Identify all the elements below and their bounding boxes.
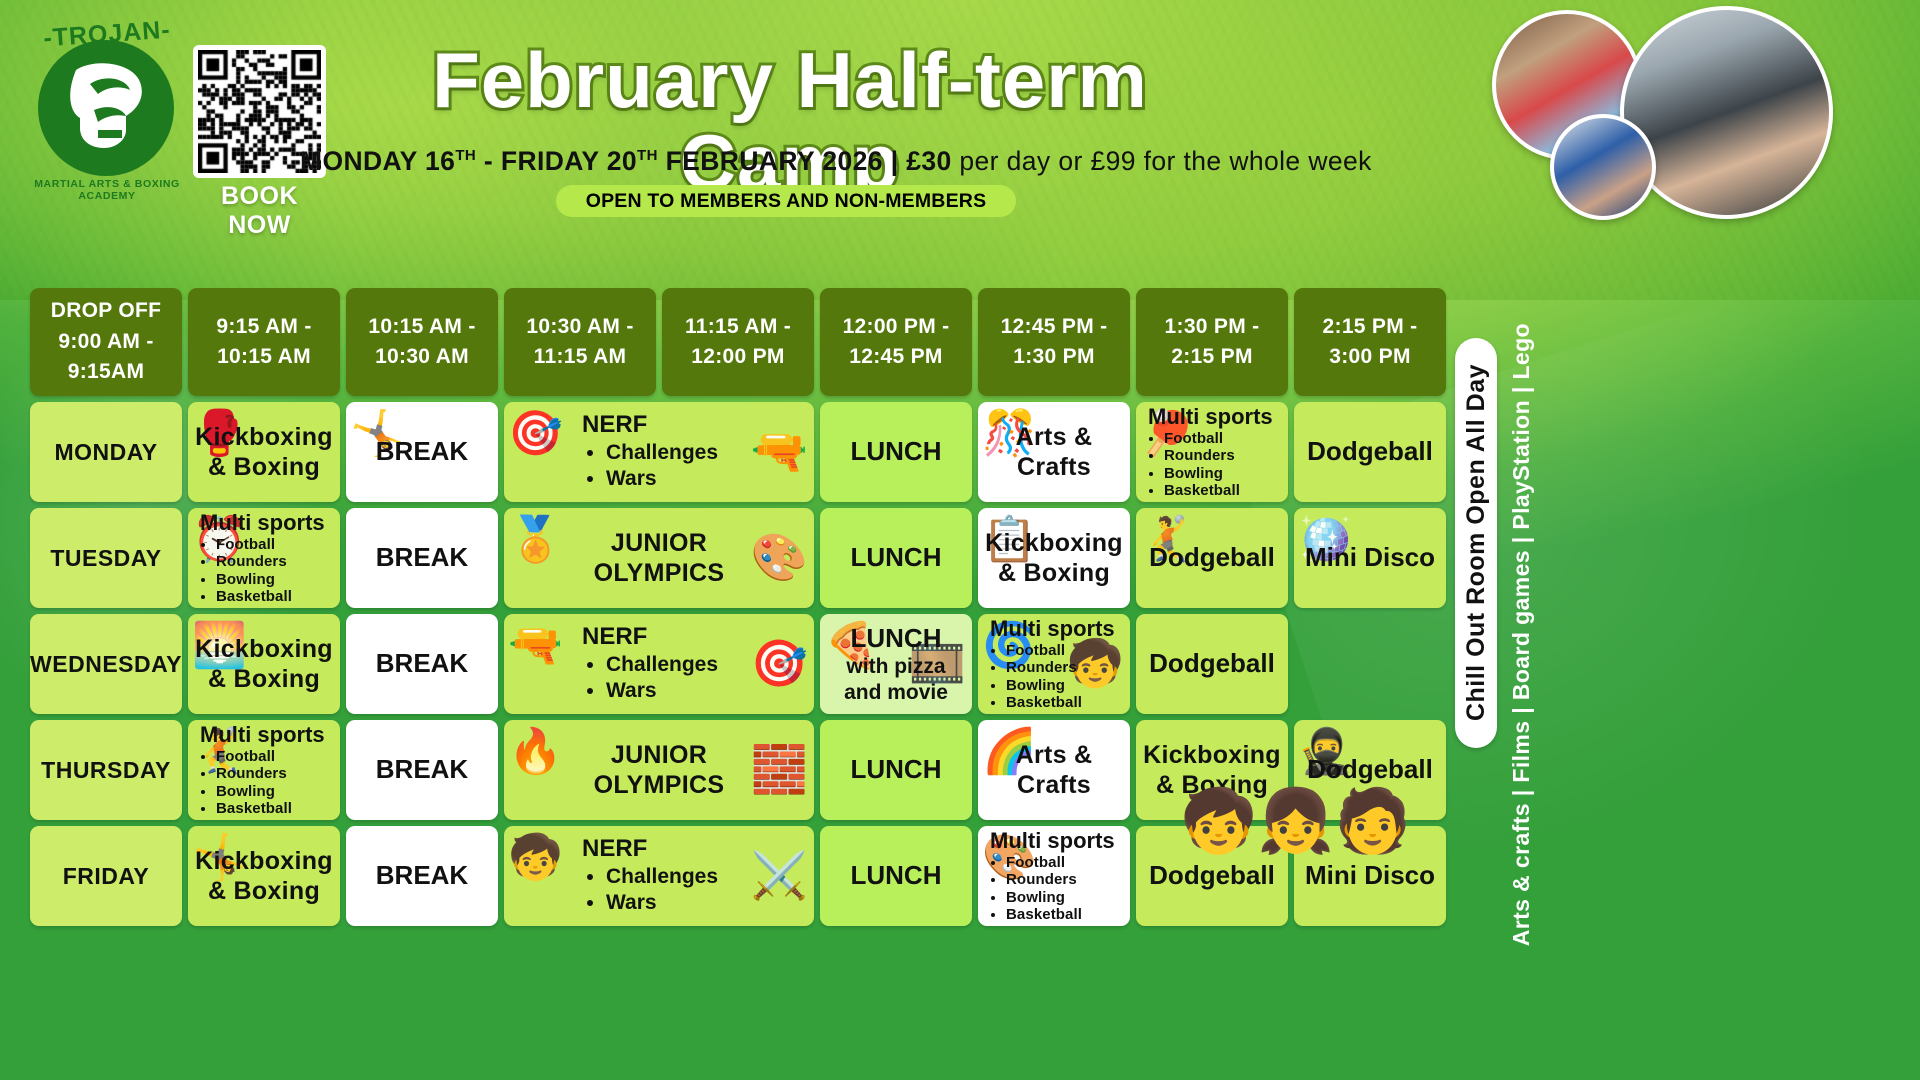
activity-cell: LUNCH — [820, 826, 972, 926]
olympic-torch-icon: 🔥 — [508, 730, 563, 774]
activity-cell: Kickboxing& Boxing🥊 — [188, 402, 340, 502]
schedule-row: TUESDAYMulti sportsFootballRoundersBowli… — [30, 508, 1450, 608]
subtitle-mid: - FRIDAY 20 — [476, 146, 637, 176]
activity-cell: LUNCHwith pizza and movie🍕🎞️ — [820, 614, 972, 714]
time-header-7: 1:30 PM -2:15 PM — [1136, 288, 1288, 396]
activity-cell: Multi sportsFootballRoundersBowlingBaske… — [978, 826, 1130, 926]
logo-bottom-text: MARTIAL ARTS & BOXING ACADEMY — [12, 178, 202, 202]
page-title: February Half-term Camp — [380, 40, 1200, 204]
lego-bricks-icon: 🧱 — [751, 746, 808, 792]
activity-cell: BREAK — [346, 720, 498, 820]
activity-cell: NERFChallengesWars🧒⚔️ — [504, 826, 814, 926]
activity-cell: Dodgeball🤾 — [1136, 508, 1288, 608]
activity-cell: Dodgeball — [1294, 402, 1446, 502]
activity-cell: BREAK — [346, 508, 498, 608]
camp-dates-and-price: MONDAY 16TH - FRIDAY 20TH FEBRUARY 2026 … — [300, 146, 1290, 177]
time-header-3: 10:30 AM -11:15 AM — [504, 288, 656, 396]
open-to-members-banner: OPEN TO MEMBERS AND NON-MEMBERS — [556, 185, 1016, 217]
activity-cell: LUNCH — [820, 720, 972, 820]
time-header-5: 12:00 PM -12:45 PM — [820, 288, 972, 396]
subtitle-sup-1: TH — [455, 147, 476, 164]
activity-cell: Arts &Crafts🌈 — [978, 720, 1130, 820]
book-now-label: BOOK NOW — [193, 182, 326, 240]
activity-cell: NERFChallengesWars🔫🎯 — [504, 614, 814, 714]
activity-cell: LUNCH — [820, 508, 972, 608]
chill-out-activities: Arts & crafts | Films | Board games | Pl… — [1500, 420, 1542, 850]
activity-cell: BREAK — [346, 826, 498, 926]
chill-out-room-label: Chill Out Room Open All Day — [1462, 364, 1491, 721]
subtitle-rest: FEBRUARY 2026 | £30 — [658, 146, 952, 176]
activity-cell: LUNCH — [820, 402, 972, 502]
activity-cell: JUNIOROLYMPICS🏅🎨 — [504, 508, 814, 608]
time-header-6: 12:45 PM -1:30 PM — [978, 288, 1130, 396]
time-header-8: 2:15 PM -3:00 PM — [1294, 288, 1446, 396]
spartan-helmet-icon — [64, 60, 150, 152]
time-header-1: 9:15 AM -10:15 AM — [188, 288, 340, 396]
activity-cell: NERFChallengesWars🎯🔫 — [504, 402, 814, 502]
activity-cell: Multi sportsFootballRoundersBowlingBaske… — [1136, 402, 1288, 502]
time-header-4: 11:15 AM -12:00 PM — [662, 288, 814, 396]
photo-collage — [1492, 6, 1912, 211]
day-label-thursday: THURSDAY — [30, 720, 182, 820]
chill-out-activities-label: Arts & crafts | Films | Board games | Pl… — [1508, 323, 1535, 946]
subtitle-sup-2: TH — [637, 147, 658, 164]
dancing-kids-icon: 🧒👧🧑 — [1180, 790, 1412, 852]
activity-cell: Kickboxing& Boxing🌅 — [188, 614, 340, 714]
activity-cell: Dodgeball — [1136, 614, 1288, 714]
photo-boy-in-kit — [1550, 114, 1656, 220]
chill-out-room-badge: Chill Out Room Open All Day — [1455, 338, 1497, 748]
book-now-block[interactable]: BOOK NOW — [193, 45, 326, 240]
time-header-0: DROP OFF9:00 AM -9:15AM — [30, 288, 182, 396]
activity-cell: Kickboxing& Boxing🤸 — [188, 826, 340, 926]
subtitle-price-detail: per day or £99 for the whole week — [952, 146, 1372, 176]
easel-icon: 🎨 — [751, 534, 808, 580]
podium-icon: 🏅 — [508, 518, 563, 562]
activity-cell: BREAK — [346, 614, 498, 714]
activity-cell: Multi sportsFootballRoundersBowlingBaske… — [188, 508, 340, 608]
activity-cell: Arts &Crafts🎊 — [978, 402, 1130, 502]
day-label-wednesday: WEDNESDAY — [30, 614, 182, 714]
schedule-row: WEDNESDAYKickboxing& Boxing🌅BREAKNERFCha… — [30, 614, 1450, 714]
activity-cell: JUNIOROLYMPICS🔥🧱 — [504, 720, 814, 820]
time-header-row: DROP OFF9:00 AM -9:15AM9:15 AM -10:15 AM… — [30, 288, 1450, 396]
activity-cell: BREAK🤸 — [346, 402, 498, 502]
day-label-tuesday: TUESDAY — [30, 508, 182, 608]
activity-cell: Mini Disco🪩 — [1294, 508, 1446, 608]
subtitle-prefix: MONDAY 16 — [300, 146, 455, 176]
time-header-2: 10:15 AM -10:30 AM — [346, 288, 498, 396]
trojan-logo: -TROJAN- MARTIAL ARTS & BOXING ACADEMY — [12, 8, 202, 198]
day-label-monday: MONDAY — [30, 402, 182, 502]
activity-cell: Multi sportsFootballRoundersBowlingBaske… — [978, 614, 1130, 714]
activity-cell: Multi sportsFootballRoundersBowlingBaske… — [188, 720, 340, 820]
day-label-friday: FRIDAY — [30, 826, 182, 926]
schedule-row: MONDAYKickboxing& Boxing🥊BREAK🤸NERFChall… — [30, 402, 1450, 502]
activity-cell: Kickboxing& Boxing📋 — [978, 508, 1130, 608]
